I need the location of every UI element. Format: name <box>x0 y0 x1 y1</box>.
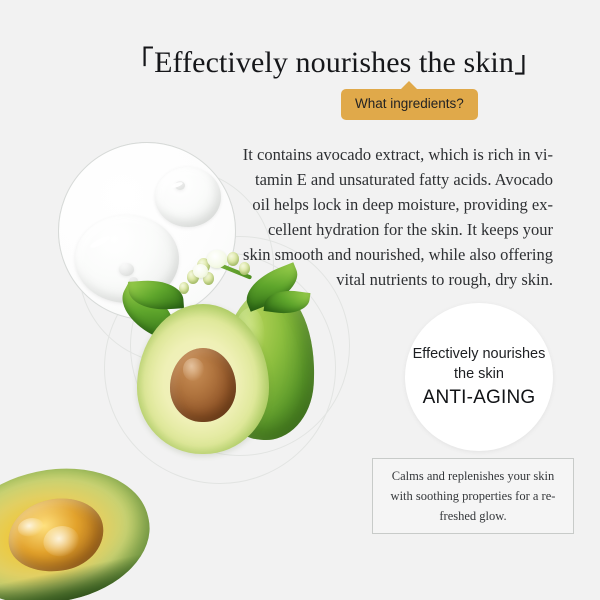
paragraph-line: tamin E and unsaturated fatty acids. Avo… <box>205 167 553 192</box>
soothing-note-box: Calms and replenishes your skin with soo… <box>372 458 574 534</box>
note-line: Calms and replenishes your skin <box>391 466 556 486</box>
note-line: with soothing properties for a re- <box>391 486 556 506</box>
avocado-flower-2 <box>193 264 208 278</box>
anti-aging-claim-circle: Effectively nourishes the skin ANTI-AGIN… <box>405 303 553 451</box>
paragraph-line: It contains avocado extract, which is ri… <box>205 142 553 167</box>
claim-line-1: Effectively nourishes <box>413 344 546 364</box>
ingredients-callout-badge[interactable]: What ingredients? <box>341 89 478 120</box>
avocado-flower-1 <box>207 250 227 268</box>
claim-emphasis: ANTI-AGING <box>423 385 536 411</box>
soothing-note-text: Calms and replenishes your skin with soo… <box>379 466 568 526</box>
page-title: 「Effectively nourishes the skin」 <box>124 44 574 82</box>
avocado-flower-bud-4 <box>227 252 239 266</box>
oil-highlight-2 <box>16 516 45 539</box>
paragraph-line: oil helps lock in deep moisture, providi… <box>205 192 553 217</box>
oil-highlight-1 <box>41 523 82 560</box>
promo-canvas: 「Effectively nourishes the skin」 What in… <box>0 0 600 600</box>
claim-line-2: the skin <box>454 364 504 384</box>
avocado-pit <box>170 348 236 422</box>
paragraph-line: cellent hydration for the skin. It keeps… <box>205 217 553 242</box>
avocado-flower-bud-5 <box>239 262 250 275</box>
note-line: freshed glow. <box>391 506 556 526</box>
avocado-product-image <box>115 250 345 480</box>
